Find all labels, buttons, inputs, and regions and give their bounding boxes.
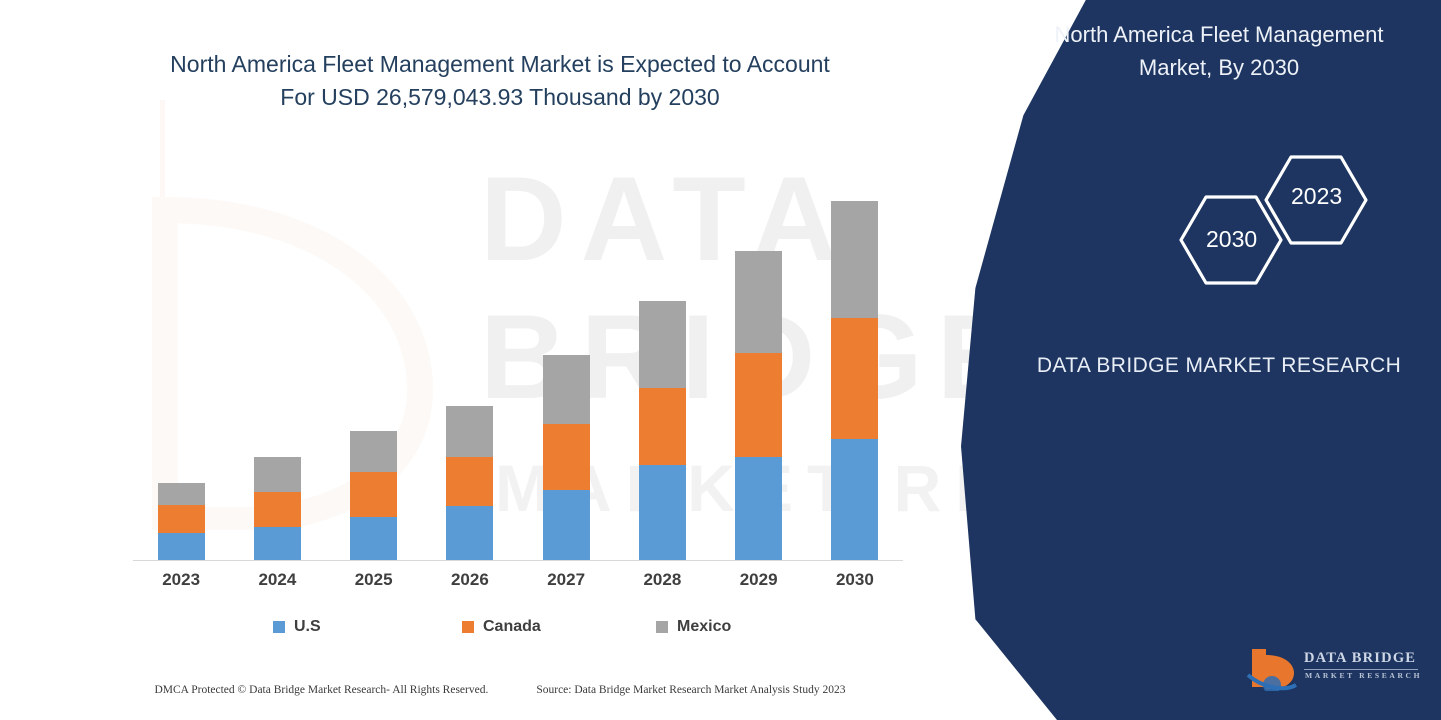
- stacked-bar-2030: [831, 201, 878, 560]
- bar-segment-canada-2025: [350, 472, 397, 517]
- chart-legend: U.SCanadaMexico: [255, 618, 815, 636]
- bar-segment-canada-2029: [735, 353, 782, 457]
- legend-swatch-icon: [462, 621, 474, 633]
- x-axis-label-2028: 2028: [614, 570, 710, 590]
- bar-segment-canada-2023: [158, 505, 205, 533]
- logo-text-primary: DATA BRIDGE: [1304, 650, 1416, 667]
- footer: DMCA Protected © Data Bridge Market Rese…: [0, 684, 1000, 696]
- panel-brand-name: DATA BRIDGE MARKET RESEARCH: [1023, 350, 1415, 383]
- x-axis-line: [133, 560, 903, 561]
- x-axis-label-2026: 2026: [422, 570, 518, 590]
- bar-segment-us-2030: [831, 439, 878, 560]
- bar-segment-mexico-2029: [735, 251, 782, 353]
- legend-label: U.S: [294, 618, 321, 636]
- stacked-bar-2027: [543, 355, 590, 560]
- bridge-b-icon: [1246, 645, 1298, 691]
- bar-slot: [518, 150, 614, 560]
- bar-slot: [133, 150, 229, 560]
- bar-segment-canada-2024: [254, 492, 301, 527]
- bar-segment-us-2029: [735, 457, 782, 560]
- bar-segment-mexico-2023: [158, 483, 205, 505]
- bar-segment-us-2026: [446, 506, 493, 560]
- legend-swatch-icon: [656, 621, 668, 633]
- stacked-bar-2029: [735, 251, 782, 560]
- x-axis-label-2025: 2025: [326, 570, 422, 590]
- x-axis-label-2024: 2024: [229, 570, 325, 590]
- x-axis-label-2030: 2030: [807, 570, 903, 590]
- bar-slot: [326, 150, 422, 560]
- logo-divider: [1304, 669, 1418, 670]
- company-logo: DATA BRIDGE MARKET RESEARCH: [1246, 645, 1426, 695]
- chart-title: North America Fleet Management Market is…: [150, 48, 850, 115]
- bar-slot: [422, 150, 518, 560]
- bar-segment-canada-2028: [639, 388, 686, 465]
- chart-panel: North America Fleet Management Market is…: [0, 0, 1000, 720]
- footer-dmca: DMCA Protected © Data Bridge Market Rese…: [154, 684, 488, 696]
- bar-slot: [807, 150, 903, 560]
- x-axis-label-2023: 2023: [133, 570, 229, 590]
- bar-series-container: [133, 150, 903, 560]
- legend-item-us: U.S: [255, 618, 432, 636]
- bar-segment-mexico-2026: [446, 406, 493, 457]
- stacked-bar-2026: [446, 406, 493, 560]
- bar-segment-mexico-2028: [639, 301, 686, 388]
- x-axis-label-2029: 2029: [711, 570, 807, 590]
- infographic-root: DATA BRIDGE MARKET RESEARCH North Americ…: [0, 0, 1441, 720]
- hexagon-2023-label: 2023: [1051, 183, 1441, 210]
- bar-slot: [711, 150, 807, 560]
- bar-segment-mexico-2024: [254, 457, 301, 492]
- bar-slot: [614, 150, 710, 560]
- hexagon-shapes: [1051, 140, 1381, 300]
- legend-item-canada: Canada: [432, 618, 621, 636]
- stacked-bar-2025: [350, 431, 397, 560]
- bar-segment-us-2024: [254, 527, 301, 560]
- bar-segment-canada-2027: [543, 424, 590, 490]
- bar-segment-us-2028: [639, 465, 686, 560]
- bar-segment-canada-2026: [446, 457, 493, 506]
- brand-panel-content: North America Fleet Management Market, B…: [961, 0, 1441, 720]
- bar-segment-mexico-2025: [350, 431, 397, 472]
- bar-segment-us-2027: [543, 490, 590, 560]
- bar-segment-us-2025: [350, 517, 397, 560]
- stacked-bar-2028: [639, 301, 686, 560]
- stacked-bar-2024: [254, 457, 301, 560]
- x-axis-labels: 20232024202520262027202820292030: [133, 570, 903, 590]
- hexagon-2030-label: 2030: [1051, 226, 1441, 253]
- logo-text-secondary: MARKET RESEARCH: [1305, 671, 1422, 680]
- legend-swatch-icon: [273, 621, 285, 633]
- legend-label: Canada: [483, 618, 541, 636]
- bar-segment-mexico-2030: [831, 201, 878, 318]
- bar-segment-mexico-2027: [543, 355, 590, 424]
- x-axis-label-2027: 2027: [518, 570, 614, 590]
- panel-title: North America Fleet Management Market, B…: [1023, 18, 1415, 84]
- bar-slot: [229, 150, 325, 560]
- footer-source: Source: Data Bridge Market Research Mark…: [536, 684, 845, 696]
- stacked-bar-2023: [158, 483, 205, 560]
- bar-segment-us-2023: [158, 533, 205, 560]
- hexagon-group: 2030 2023: [1051, 140, 1381, 300]
- legend-item-mexico: Mexico: [621, 618, 815, 636]
- bar-segment-canada-2030: [831, 318, 878, 439]
- legend-label: Mexico: [677, 618, 731, 636]
